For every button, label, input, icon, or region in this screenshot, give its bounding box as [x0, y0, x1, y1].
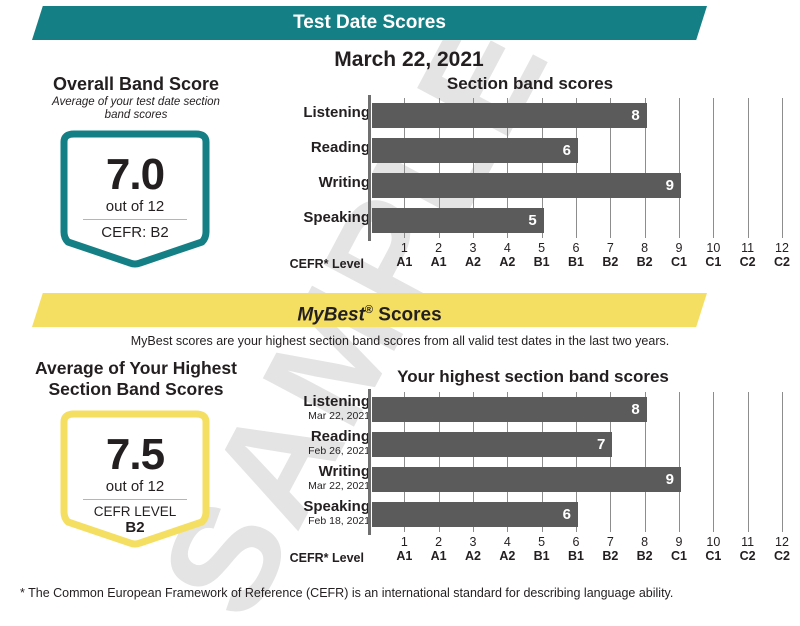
axis-tick: 3A2 — [456, 241, 490, 270]
axis-tick-cefr: C1 — [696, 549, 730, 564]
axis-tick: 1A1 — [387, 241, 421, 270]
axis-tick-number: 4 — [490, 241, 524, 255]
mybest-score-value: 7.5 — [58, 408, 212, 478]
chart-bar: 8 — [372, 103, 647, 128]
axis-tick-number: 1 — [387, 535, 421, 549]
mybest-note: MyBest scores are your highest section b… — [0, 334, 800, 348]
axis-tick-number: 9 — [662, 535, 696, 549]
axis-tick-number: 5 — [525, 535, 559, 549]
chart-row-label: ReadingFeb 26, 2021 — [220, 428, 370, 457]
axis-tick-number: 1 — [387, 241, 421, 255]
axis-tick-cefr: A2 — [456, 549, 490, 564]
axis-tick: 6B1 — [559, 241, 593, 270]
chart-bar-value: 9 — [666, 173, 674, 198]
axis-tick-cefr: C1 — [696, 255, 730, 270]
section-band-scores-title: Section band scores — [380, 74, 680, 94]
axis-tick-number: 2 — [422, 535, 456, 549]
axis-tick-number: 5 — [525, 241, 559, 255]
mybest-cefr-value: B2 — [58, 519, 212, 536]
chart-row-date: Mar 22, 2021 — [220, 480, 370, 492]
gridline — [782, 392, 783, 532]
gridline — [679, 392, 680, 532]
axis-tick: 10C1 — [696, 535, 730, 564]
axis-tick-cefr: C2 — [731, 255, 765, 270]
axis-tick: 11C2 — [731, 241, 765, 270]
axis-tick: 10C1 — [696, 241, 730, 270]
chart-row-name: Reading — [220, 139, 370, 156]
axis-tick: 8B2 — [628, 535, 662, 564]
highest-section-band-scores-chart: ListeningMar 22, 20218ReadingFeb 26, 202… — [264, 392, 784, 572]
overall-band-score-subtitle: Average of your test date section band s… — [38, 96, 234, 122]
overall-cefr-label: CEFR: B2 — [58, 224, 212, 241]
chart-row-date: Feb 18, 2021 — [220, 515, 370, 527]
axis-tick-cefr: B2 — [628, 549, 662, 564]
chart-bar-value: 9 — [666, 467, 674, 492]
chart-row-label: Speaking — [220, 209, 370, 226]
axis-tick-number: 8 — [628, 535, 662, 549]
axis-tick: 11C2 — [731, 535, 765, 564]
axis-tick: 6B1 — [559, 535, 593, 564]
overall-band-score-title: Overall Band Score — [16, 74, 256, 95]
axis-tick-cefr: B1 — [559, 549, 593, 564]
axis-tick: 5B1 — [525, 535, 559, 564]
axis-tick: 9C1 — [662, 241, 696, 270]
mybest-score-outof: out of 12 — [58, 478, 212, 495]
chart-bar-value: 5 — [528, 208, 536, 233]
chart-row-label: Listening — [220, 104, 370, 121]
axis-tick-number: 12 — [765, 241, 799, 255]
axis-tick: 12C2 — [765, 241, 799, 270]
registered-trademark-icon: ® — [365, 304, 373, 316]
chart2-axis-line — [368, 389, 371, 535]
axis-tick-number: 7 — [593, 241, 627, 255]
chart-row-date: Mar 22, 2021 — [220, 410, 370, 422]
axis-tick: 2A1 — [422, 241, 456, 270]
chart-bar-value: 7 — [597, 432, 605, 457]
chart-bar: 9 — [372, 173, 681, 198]
chart-row-label: Writing — [220, 174, 370, 191]
chart-bar-value: 8 — [631, 397, 639, 422]
axis-tick-number: 7 — [593, 535, 627, 549]
chart-row-name: Speaking — [220, 498, 370, 515]
axis-tick: 4A2 — [490, 535, 524, 564]
axis-tick-number: 6 — [559, 535, 593, 549]
chart-row-label: Reading — [220, 139, 370, 156]
axis-tick-cefr: A1 — [422, 255, 456, 270]
axis-tick-number: 3 — [456, 241, 490, 255]
overall-score-outof: out of 12 — [58, 198, 212, 215]
axis-tick-cefr: C2 — [765, 255, 799, 270]
chart-row-name: Writing — [220, 174, 370, 191]
axis-tick-number: 12 — [765, 535, 799, 549]
chart1-axis-line — [368, 95, 371, 241]
highest-section-band-scores-title: Your highest section band scores — [368, 367, 698, 387]
axis-tick-cefr: C1 — [662, 255, 696, 270]
chart-bar: 6 — [372, 502, 578, 527]
chart2-axis-labels: CEFR* Level 1A12A13A24A25B16B17B28B29C11… — [264, 535, 784, 571]
axis-tick: 2A1 — [422, 535, 456, 564]
chart-row-name: Listening — [220, 104, 370, 121]
axis-tick: 9C1 — [662, 535, 696, 564]
chart-row-label: WritingMar 22, 2021 — [220, 463, 370, 492]
axis-tick-cefr: C2 — [731, 549, 765, 564]
gridline — [713, 392, 714, 532]
chart-row-date: Feb 26, 2021 — [220, 445, 370, 457]
chart1-axis-caption: CEFR* Level — [264, 257, 364, 271]
axis-tick: 1A1 — [387, 535, 421, 564]
axis-tick-number: 9 — [662, 241, 696, 255]
axis-tick-number: 4 — [490, 535, 524, 549]
overall-score-value: 7.0 — [58, 128, 212, 198]
chart-bar-value: 6 — [563, 502, 571, 527]
axis-tick: 8B2 — [628, 241, 662, 270]
axis-tick-number: 10 — [696, 535, 730, 549]
mybest-cefr-label: CEFR LEVEL — [58, 504, 212, 519]
axis-tick-cefr: A1 — [422, 549, 456, 564]
axis-tick-number: 6 — [559, 241, 593, 255]
axis-tick-cefr: A2 — [456, 255, 490, 270]
chart2-axis-caption: CEFR* Level — [264, 551, 364, 565]
axis-tick-number: 2 — [422, 241, 456, 255]
chart1-axis-labels: CEFR* Level 1A12A13A24A25B16B17B28B29C11… — [264, 241, 784, 277]
axis-tick-cefr: A1 — [387, 255, 421, 270]
axis-tick-cefr: A2 — [490, 255, 524, 270]
mybest-banner-label-rest: Scores — [373, 304, 442, 325]
chart-row-name: Reading — [220, 428, 370, 445]
chart-bar: 6 — [372, 138, 578, 163]
axis-tick-cefr: B2 — [593, 255, 627, 270]
test-date-scores-banner: Test Date Scores — [32, 6, 707, 40]
average-highest-title: Average of Your Highest Section Band Sco… — [8, 358, 264, 400]
axis-tick-cefr: C1 — [662, 549, 696, 564]
axis-tick-cefr: B1 — [525, 255, 559, 270]
axis-tick-cefr: A1 — [387, 549, 421, 564]
overall-band-score-shield: 7.0 out of 12 CEFR: B2 — [58, 128, 212, 268]
gridline — [713, 98, 714, 238]
axis-tick: 4A2 — [490, 241, 524, 270]
axis-tick: 7B2 — [593, 241, 627, 270]
axis-tick-number: 11 — [731, 241, 765, 255]
gridline — [748, 98, 749, 238]
axis-tick: 3A2 — [456, 535, 490, 564]
axis-tick-cefr: B1 — [525, 549, 559, 564]
mybest-scores-banner: MyBest® Scores — [32, 293, 707, 327]
gridline — [679, 98, 680, 238]
axis-tick-cefr: B2 — [593, 549, 627, 564]
axis-tick-cefr: C2 — [765, 549, 799, 564]
axis-tick: 5B1 — [525, 241, 559, 270]
axis-tick-cefr: B2 — [628, 255, 662, 270]
axis-tick-number: 10 — [696, 241, 730, 255]
chart-row-name: Writing — [220, 463, 370, 480]
axis-tick-cefr: B1 — [559, 255, 593, 270]
chart-bar-value: 8 — [631, 103, 639, 128]
axis-tick-number: 3 — [456, 535, 490, 549]
chart-bar: 8 — [372, 397, 647, 422]
axis-tick: 7B2 — [593, 535, 627, 564]
mybest-average-shield: 7.5 out of 12 CEFR LEVEL B2 — [58, 408, 212, 548]
chart-bar: 5 — [372, 208, 544, 233]
axis-tick-number: 11 — [731, 535, 765, 549]
gridline — [748, 392, 749, 532]
test-date: March 22, 2021 — [264, 48, 554, 72]
axis-tick-cefr: A2 — [490, 549, 524, 564]
chart-bar: 9 — [372, 467, 681, 492]
cefr-footnote: * The Common European Framework of Refer… — [20, 586, 720, 601]
axis-tick: 12C2 — [765, 535, 799, 564]
mybest-banner-label: MyBest — [297, 304, 365, 325]
test-date-scores-banner-label: Test Date Scores — [293, 12, 446, 33]
shield-divider — [83, 219, 187, 220]
gridline — [782, 98, 783, 238]
chart-row-label: SpeakingFeb 18, 2021 — [220, 498, 370, 527]
axis-tick-number: 8 — [628, 241, 662, 255]
shield-divider — [83, 499, 187, 500]
chart-bar-value: 6 — [563, 138, 571, 163]
chart-row-name: Speaking — [220, 209, 370, 226]
section-band-scores-chart: Listening8Reading6Writing9Speaking5 CEFR… — [264, 98, 784, 278]
chart-bar: 7 — [372, 432, 612, 457]
